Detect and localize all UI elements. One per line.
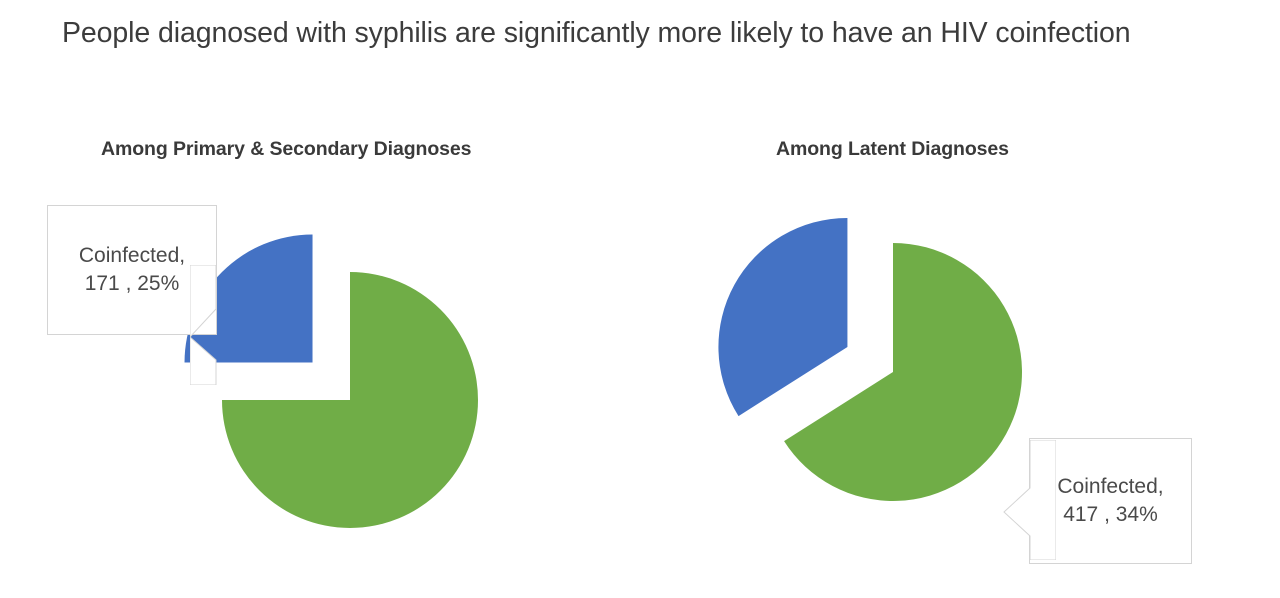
callout-leader-primary-secondary — [190, 265, 260, 385]
chart-subtitle-latent: Among Latent Diagnoses — [776, 138, 1009, 161]
data-label-line-2: 417 , 34% — [1063, 501, 1158, 529]
slide-canvas: People diagnosed with syphilis are signi… — [0, 0, 1280, 598]
callout-leader-latent — [986, 440, 1056, 560]
data-label-line-1: Coinfected, — [1057, 473, 1163, 501]
data-label-line-2: 171 , 25% — [85, 270, 180, 298]
chart-subtitle-primary-secondary: Among Primary & Secondary Diagnoses — [101, 138, 471, 161]
data-label-line-1: Coinfected, — [79, 242, 185, 270]
pie-slice-coinfected-2[interactable] — [718, 218, 847, 416]
pie-chart-latent — [718, 218, 1022, 501]
page-title: People diagnosed with syphilis are signi… — [62, 16, 1232, 52]
